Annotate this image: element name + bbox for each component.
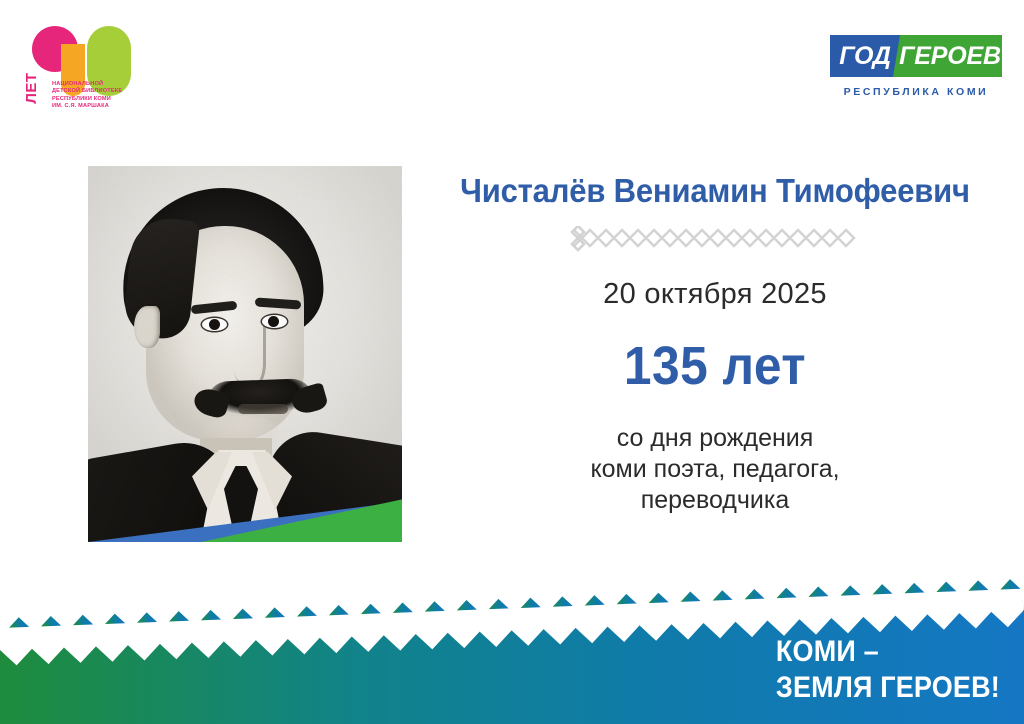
band-slogan-line-1: КОМИ – xyxy=(776,634,1000,670)
info-block: Чисталёв Вениамин Тимофеевич xyxy=(420,172,1010,516)
library-logo-caption: НАЦИОНАЛЬНОЙ ДЕТСКОЙ БИБЛИОТЕКЕ РЕСПУБЛИ… xyxy=(52,81,122,111)
year-of-heroes-subtitle: РЕСПУБЛИКА КОМИ xyxy=(830,86,1002,98)
library-logo: ЛЕТ НАЦИОНАЛЬНОЙ ДЕТСКОЙ БИБЛИОТЕКЕ РЕСП… xyxy=(14,12,194,117)
year-of-heroes-word-geroev: ГЕРОЕВ xyxy=(893,35,1002,77)
komi-ornament-divider-icon xyxy=(420,226,1010,252)
library-logo-mark: ЛЕТ xyxy=(14,12,134,92)
library-caption-line-3: РЕСПУБЛИКИ КОМИ xyxy=(52,96,122,103)
anniversary-years: 135 лет xyxy=(444,335,987,397)
description-line-3: переводчика xyxy=(420,485,1010,516)
person-name: Чисталёв Вениамин Тимофеевич xyxy=(438,172,993,210)
library-caption-line-4: ИМ. С.Я. МАРШАКА xyxy=(52,103,122,110)
year-of-heroes-bar: ГОД ГЕРОЕВ xyxy=(830,35,1002,77)
portrait-grain-texture xyxy=(88,166,402,542)
description-line-2: коми поэта, педагога, xyxy=(420,454,1010,485)
band-slogan-line-2: ЗЕМЛЯ ГЕРОЕВ! xyxy=(776,670,1000,706)
portrait-photo xyxy=(88,166,402,542)
description: со дня рождения коми поэта, педагога, пе… xyxy=(420,423,1010,516)
portrait-image xyxy=(88,166,402,542)
description-line-1: со дня рождения xyxy=(420,423,1010,454)
band-slogan: КОМИ – ЗЕМЛЯ ГЕРОЕВ! xyxy=(776,634,1000,706)
library-caption-line-2: ДЕТСКОЙ БИБЛИОТЕКЕ xyxy=(52,88,122,95)
event-date: 20 октября 2025 xyxy=(420,278,1010,311)
year-of-heroes-word-god: ГОД xyxy=(830,35,900,77)
bottom-decorative-band: КОМИ – ЗЕМЛЯ ГЕРОЕВ! xyxy=(0,564,1024,724)
logo-years-word: ЛЕТ xyxy=(23,62,39,114)
year-of-heroes-logo: ГОД ГЕРОЕВ РЕСПУБЛИКА КОМИ xyxy=(830,35,1002,98)
